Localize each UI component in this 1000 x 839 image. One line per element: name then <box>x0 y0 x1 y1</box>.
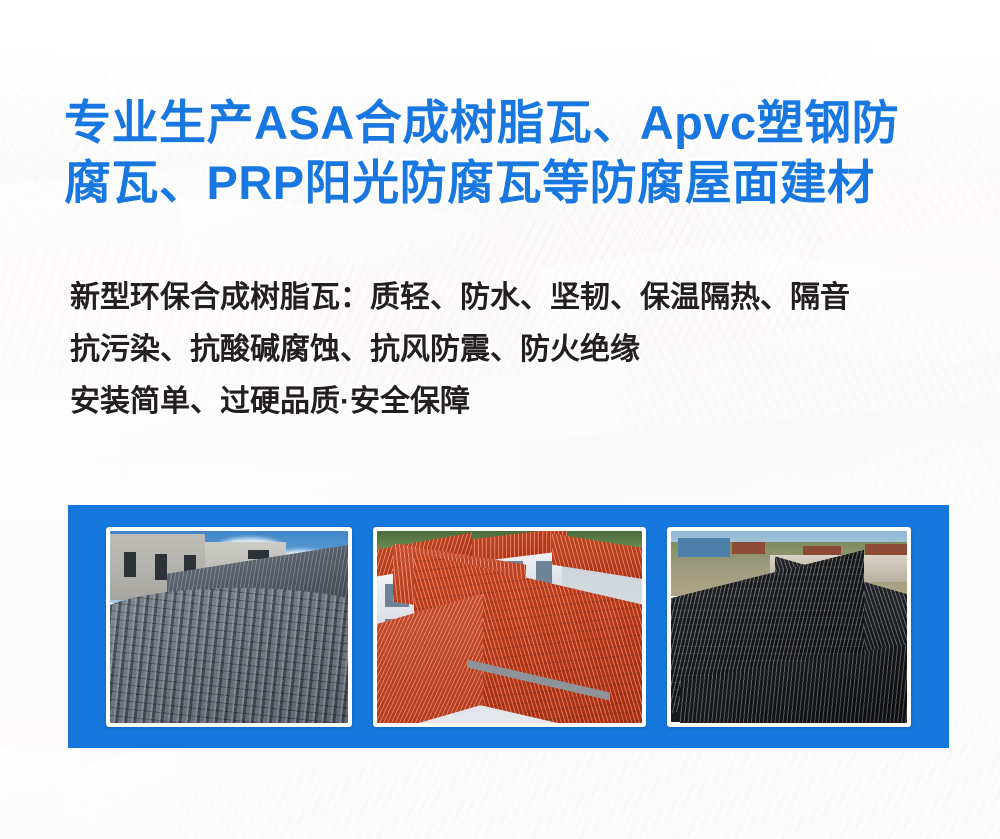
headline: 专业生产ASA合成树脂瓦、Apvc塑钢防 腐瓦、PRP阳光防腐瓦等防腐屋面建材 <box>64 93 944 213</box>
grey-resin-tile-roof-photo <box>110 531 348 723</box>
photo3-tiled-building-roof <box>865 544 907 556</box>
subtitle-line-3: 安装简单、过硬品质·安全保障 <box>70 376 970 428</box>
photo3-tiled-building-roof <box>732 542 765 554</box>
photo1-window <box>155 554 167 581</box>
black-resin-tile-roof-photo <box>671 531 907 723</box>
subtitle-feature-list: 新型环保合成树脂瓦：质轻、防水、坚韧、保温隔热、隔音 抗污染、抗酸碱腐蚀、抗风防… <box>70 272 970 428</box>
subtitle-line-1: 新型环保合成树脂瓦：质轻、防水、坚韧、保温隔热、隔音 <box>70 272 970 324</box>
red-resin-tile-roof-photo <box>377 531 642 723</box>
product-photo-gallery <box>68 505 949 748</box>
headline-line-1: 专业生产ASA合成树脂瓦、Apvc塑钢防 <box>64 93 944 153</box>
photo1-main-tile-roof <box>110 588 348 722</box>
photo1-window <box>124 552 136 577</box>
photo3-blue-building <box>678 538 730 557</box>
photo-frame-3[interactable] <box>667 527 911 727</box>
photo-frame-2[interactable] <box>373 527 646 727</box>
subtitle-line-2: 抗污染、抗酸碱腐蚀、抗风防震、防火绝缘 <box>70 324 970 376</box>
headline-line-2: 腐瓦、PRP阳光防腐瓦等防腐屋面建材 <box>64 153 944 213</box>
product-promo-banner: 专业生产ASA合成树脂瓦、Apvc塑钢防 腐瓦、PRP阳光防腐瓦等防腐屋面建材 … <box>0 0 1000 839</box>
photo-frame-1[interactable] <box>106 527 352 727</box>
